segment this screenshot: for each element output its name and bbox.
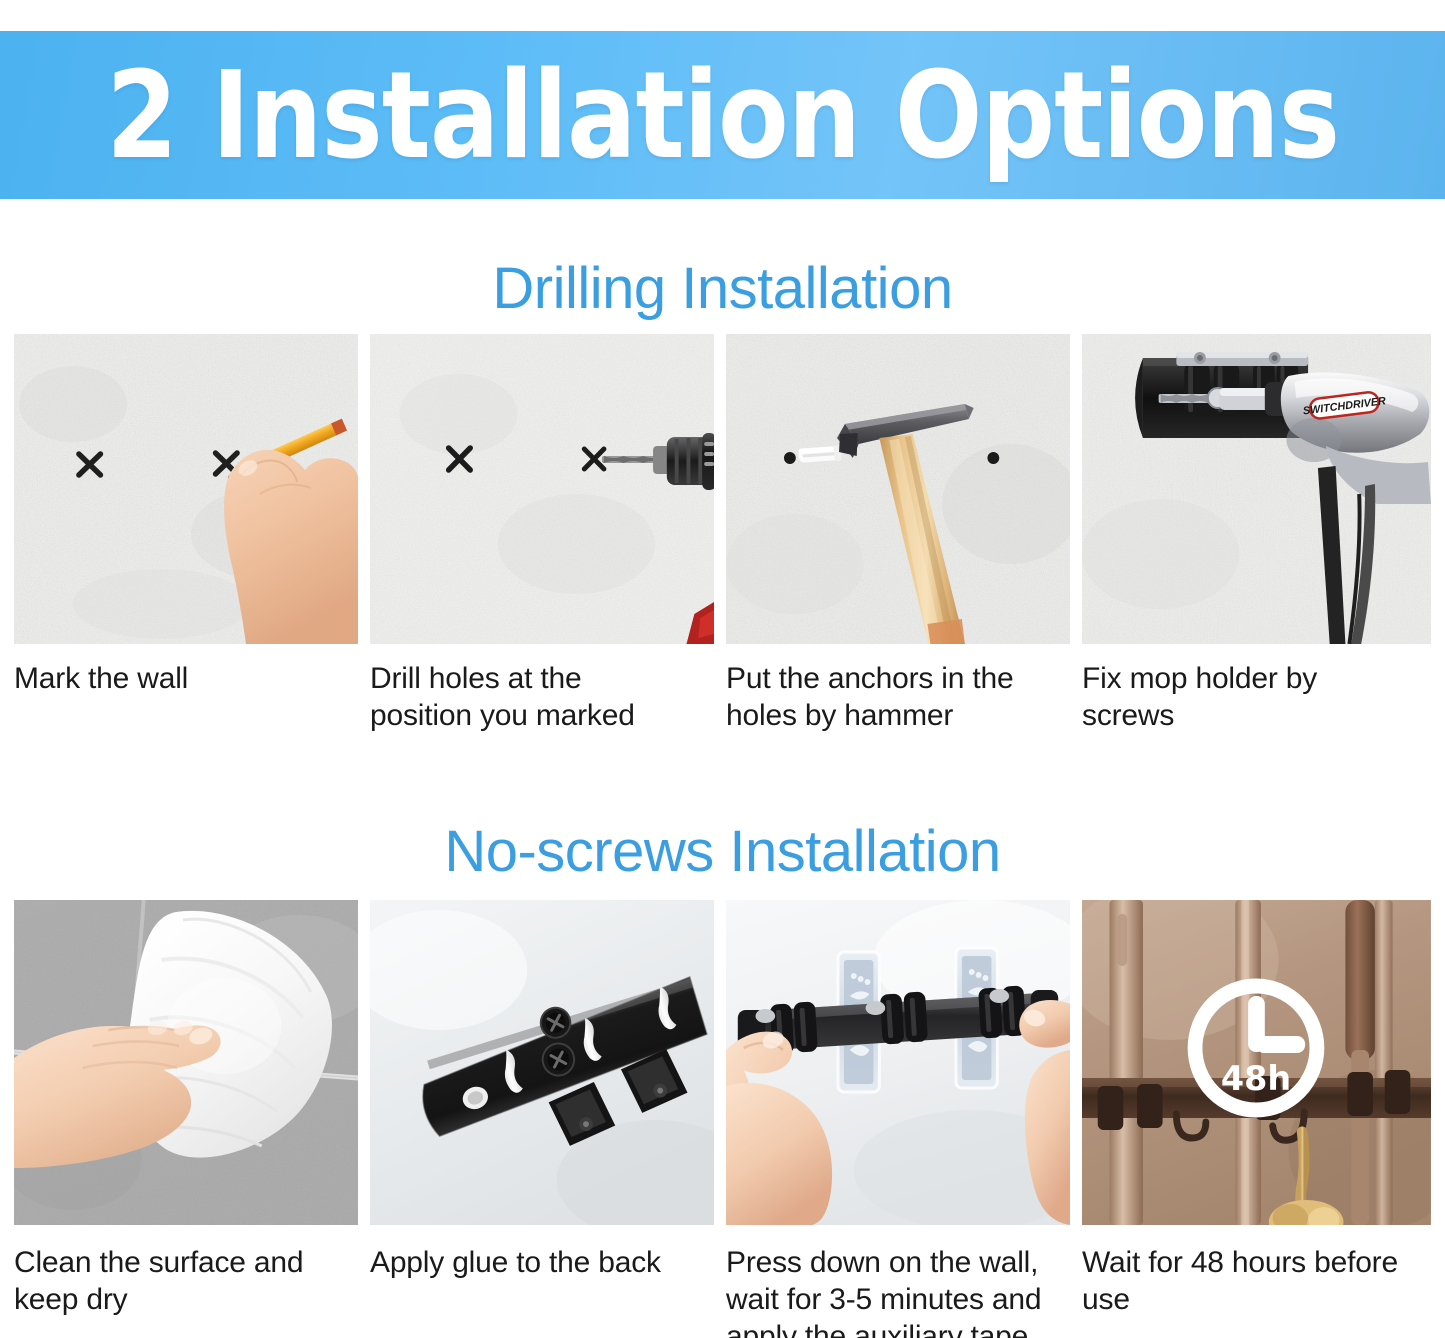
photo-fix-by-screws: SWITCHDRIVER (1082, 334, 1431, 644)
photo-apply-glue (370, 900, 714, 1225)
step-apply-glue: Apply glue to the back (370, 900, 714, 1338)
mop-handle (1110, 900, 1143, 1225)
step-caption: Mark the wall (14, 661, 354, 698)
step-caption: Press down on the wall, wait for 3-5 min… (726, 1245, 1070, 1338)
drilling-steps-row: Mark the wall (14, 334, 1431, 735)
section-heading-drilling: Drilling Installation (0, 255, 1445, 322)
page-title: 2 Installation Options (106, 55, 1339, 176)
step-caption: Drill holes at the position you marked (370, 661, 700, 735)
badge-label: 48h (1221, 1059, 1291, 1098)
photo-drill-holes (370, 334, 714, 644)
drilled-hole (987, 452, 999, 464)
photo-wait-48-hours: 48h (1082, 900, 1431, 1225)
photo-press-on-wall (726, 900, 1070, 1225)
photo-put-anchors (726, 334, 1070, 644)
noscrews-steps-row: Clean the surface and keep dry (14, 900, 1431, 1338)
step-put-anchors: Put the anchors in the holes by hammer (726, 334, 1070, 735)
header-banner: 2 Installation Options (0, 31, 1445, 199)
step-caption: Apply glue to the back (370, 1245, 714, 1282)
photo-mark-the-wall (14, 334, 358, 644)
step-drill-holes: Drill holes at the position you marked (370, 334, 714, 735)
step-caption: Fix mop holder by screws (1082, 661, 1431, 735)
step-clean-surface: Clean the surface and keep dry (14, 900, 358, 1338)
section-heading-noscrews: No-screws Installation (0, 818, 1445, 885)
photo-clean-surface (14, 900, 358, 1225)
step-mark-the-wall: Mark the wall (14, 334, 358, 735)
drill-bit (602, 456, 661, 463)
step-caption: Clean the surface and keep dry (14, 1245, 354, 1319)
step-fix-by-screws: SWITCHDRIVER Fix mop holder by screws (1082, 334, 1431, 735)
step-press-on-wall: Press down on the wall, wait for 3-5 min… (726, 900, 1070, 1338)
step-caption: Put the anchors in the holes by hammer (726, 661, 1070, 735)
step-wait-48-hours: 48h Wait for 48 hours before use (1082, 900, 1431, 1338)
drilled-hole (784, 452, 796, 464)
step-caption: Wait for 48 hours before use (1082, 1245, 1431, 1319)
infographic-page: 2 Installation Options Drilling Installa… (0, 0, 1445, 1338)
hand (224, 450, 358, 644)
